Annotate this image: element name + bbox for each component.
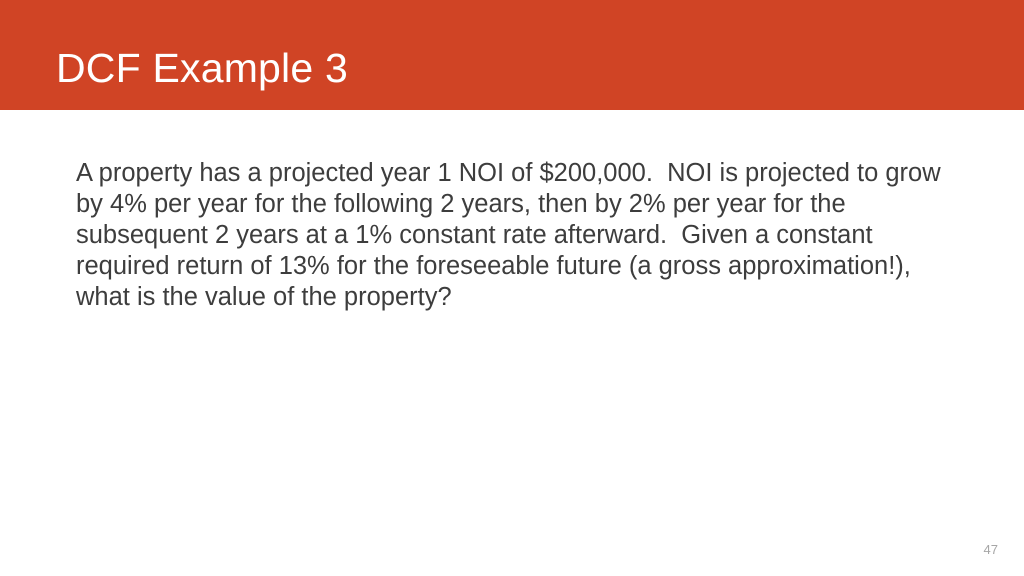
slide: DCF Example 3 A property has a projected… (0, 0, 1024, 576)
page-title: DCF Example 3 (56, 44, 348, 92)
slide-body-text: A property has a projected year 1 NOI of… (76, 158, 966, 313)
body-line: by 4% per year for the following 2 years… (76, 189, 966, 220)
body-line: subsequent 2 years at a 1% constant rate… (76, 220, 966, 251)
body-line: what is the value of the property? (76, 282, 966, 313)
body-line: A property has a projected year 1 NOI of… (76, 158, 966, 189)
body-line: required return of 13% for the foreseeab… (76, 251, 966, 282)
page-number: 47 (984, 542, 998, 558)
